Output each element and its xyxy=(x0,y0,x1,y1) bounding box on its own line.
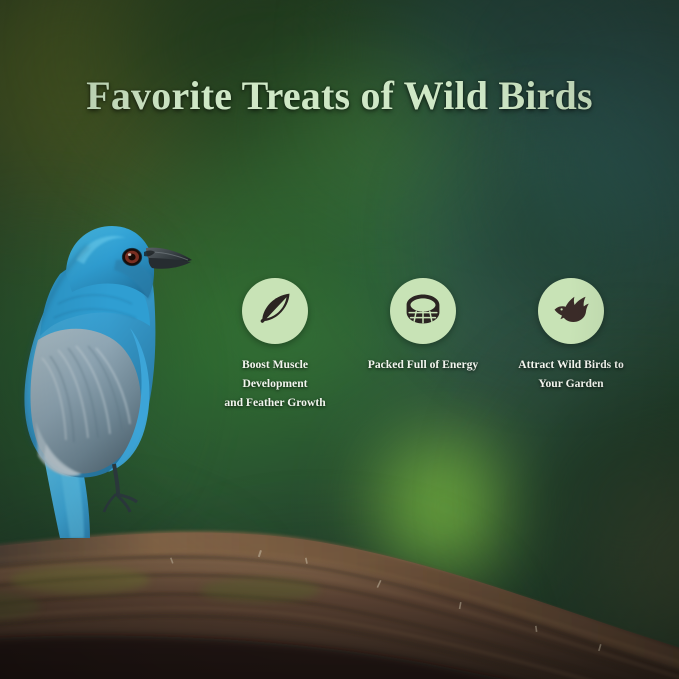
product-lifestyle-image: Favorite Treats of Wild Birds xyxy=(0,0,679,679)
feature-icon-badge xyxy=(538,278,604,344)
flying-bird-icon xyxy=(550,288,592,335)
feature-icon-badge xyxy=(390,278,456,344)
feature-caption: Attract Wild Birds to Your Garden xyxy=(499,355,643,393)
feature-item-energy: Packed Full of Energy xyxy=(351,278,495,374)
feature-caption: Boost Muscle Development and Feather Gro… xyxy=(203,355,347,412)
feature-item-attract-birds: Attract Wild Birds to Your Garden xyxy=(499,278,643,393)
feature-item-muscle-development: Boost Muscle Development and Feather Gro… xyxy=(203,278,347,412)
suet-fat-ball-icon xyxy=(403,289,443,334)
bird-photo xyxy=(4,208,194,538)
feather-icon xyxy=(255,289,295,334)
feature-row: Boost Muscle Development and Feather Gro… xyxy=(203,278,643,418)
feature-caption: Packed Full of Energy xyxy=(351,355,495,374)
feature-icon-badge xyxy=(242,278,308,344)
page-title: Favorite Treats of Wild Birds xyxy=(0,72,679,119)
